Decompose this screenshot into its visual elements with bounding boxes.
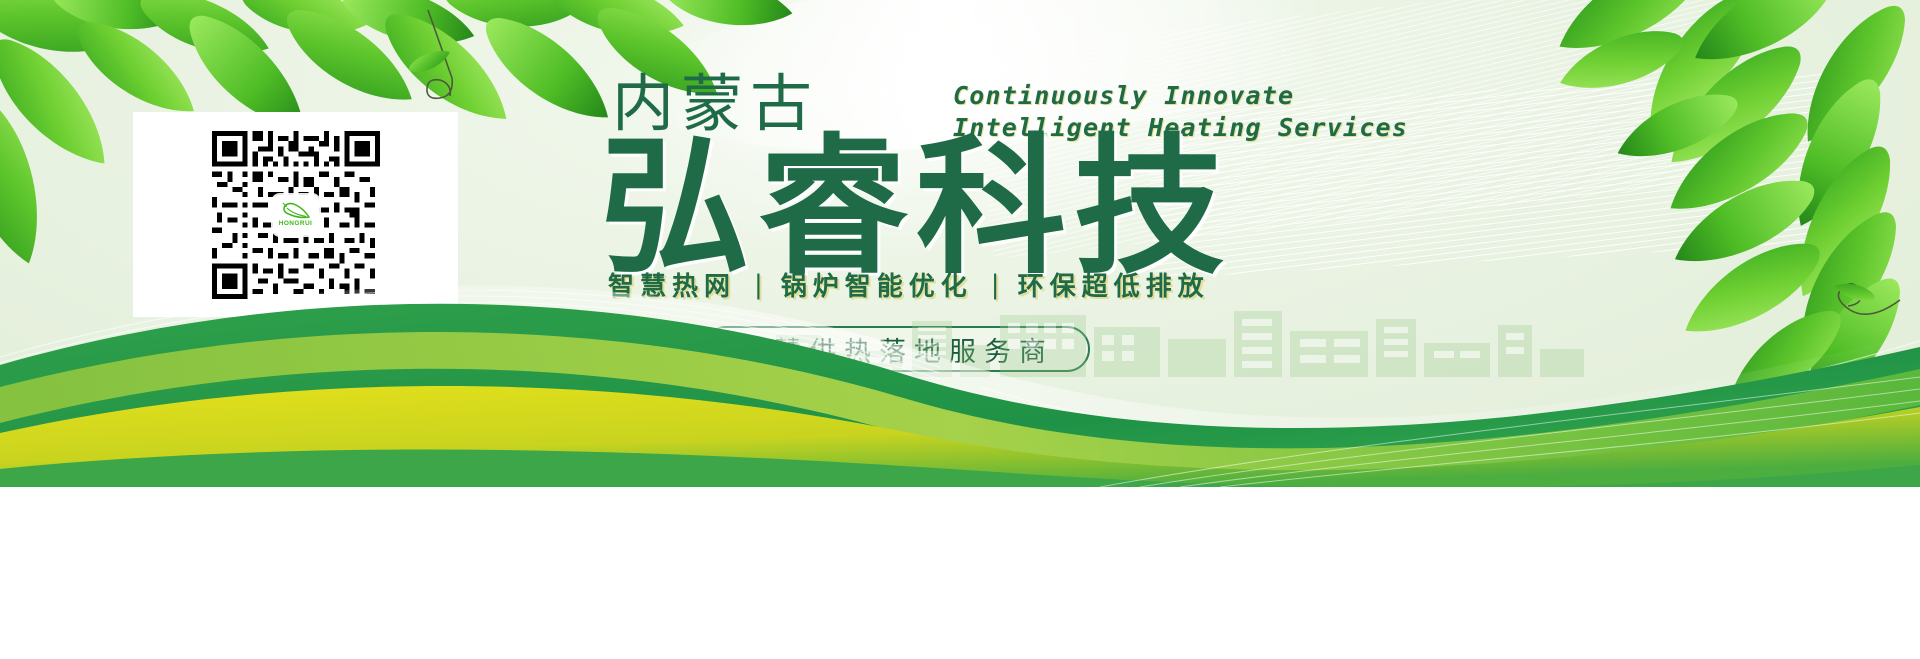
qr-logo-text: HONGRUI [279,221,313,228]
tendril-left [427,10,452,98]
promotional-banner: HONGRUI 内蒙古 Continuously Innovate Intell… [0,0,1920,487]
qr-center-logo: HONGRUI [273,195,319,235]
english-tagline-line1: Continuously Innovate [953,80,1408,112]
page-root: HONGRUI 内蒙古 Continuously Innovate Intell… [0,0,1920,659]
decorative-wave-graphic [0,237,1920,487]
leaf-bird-icon [281,201,311,220]
